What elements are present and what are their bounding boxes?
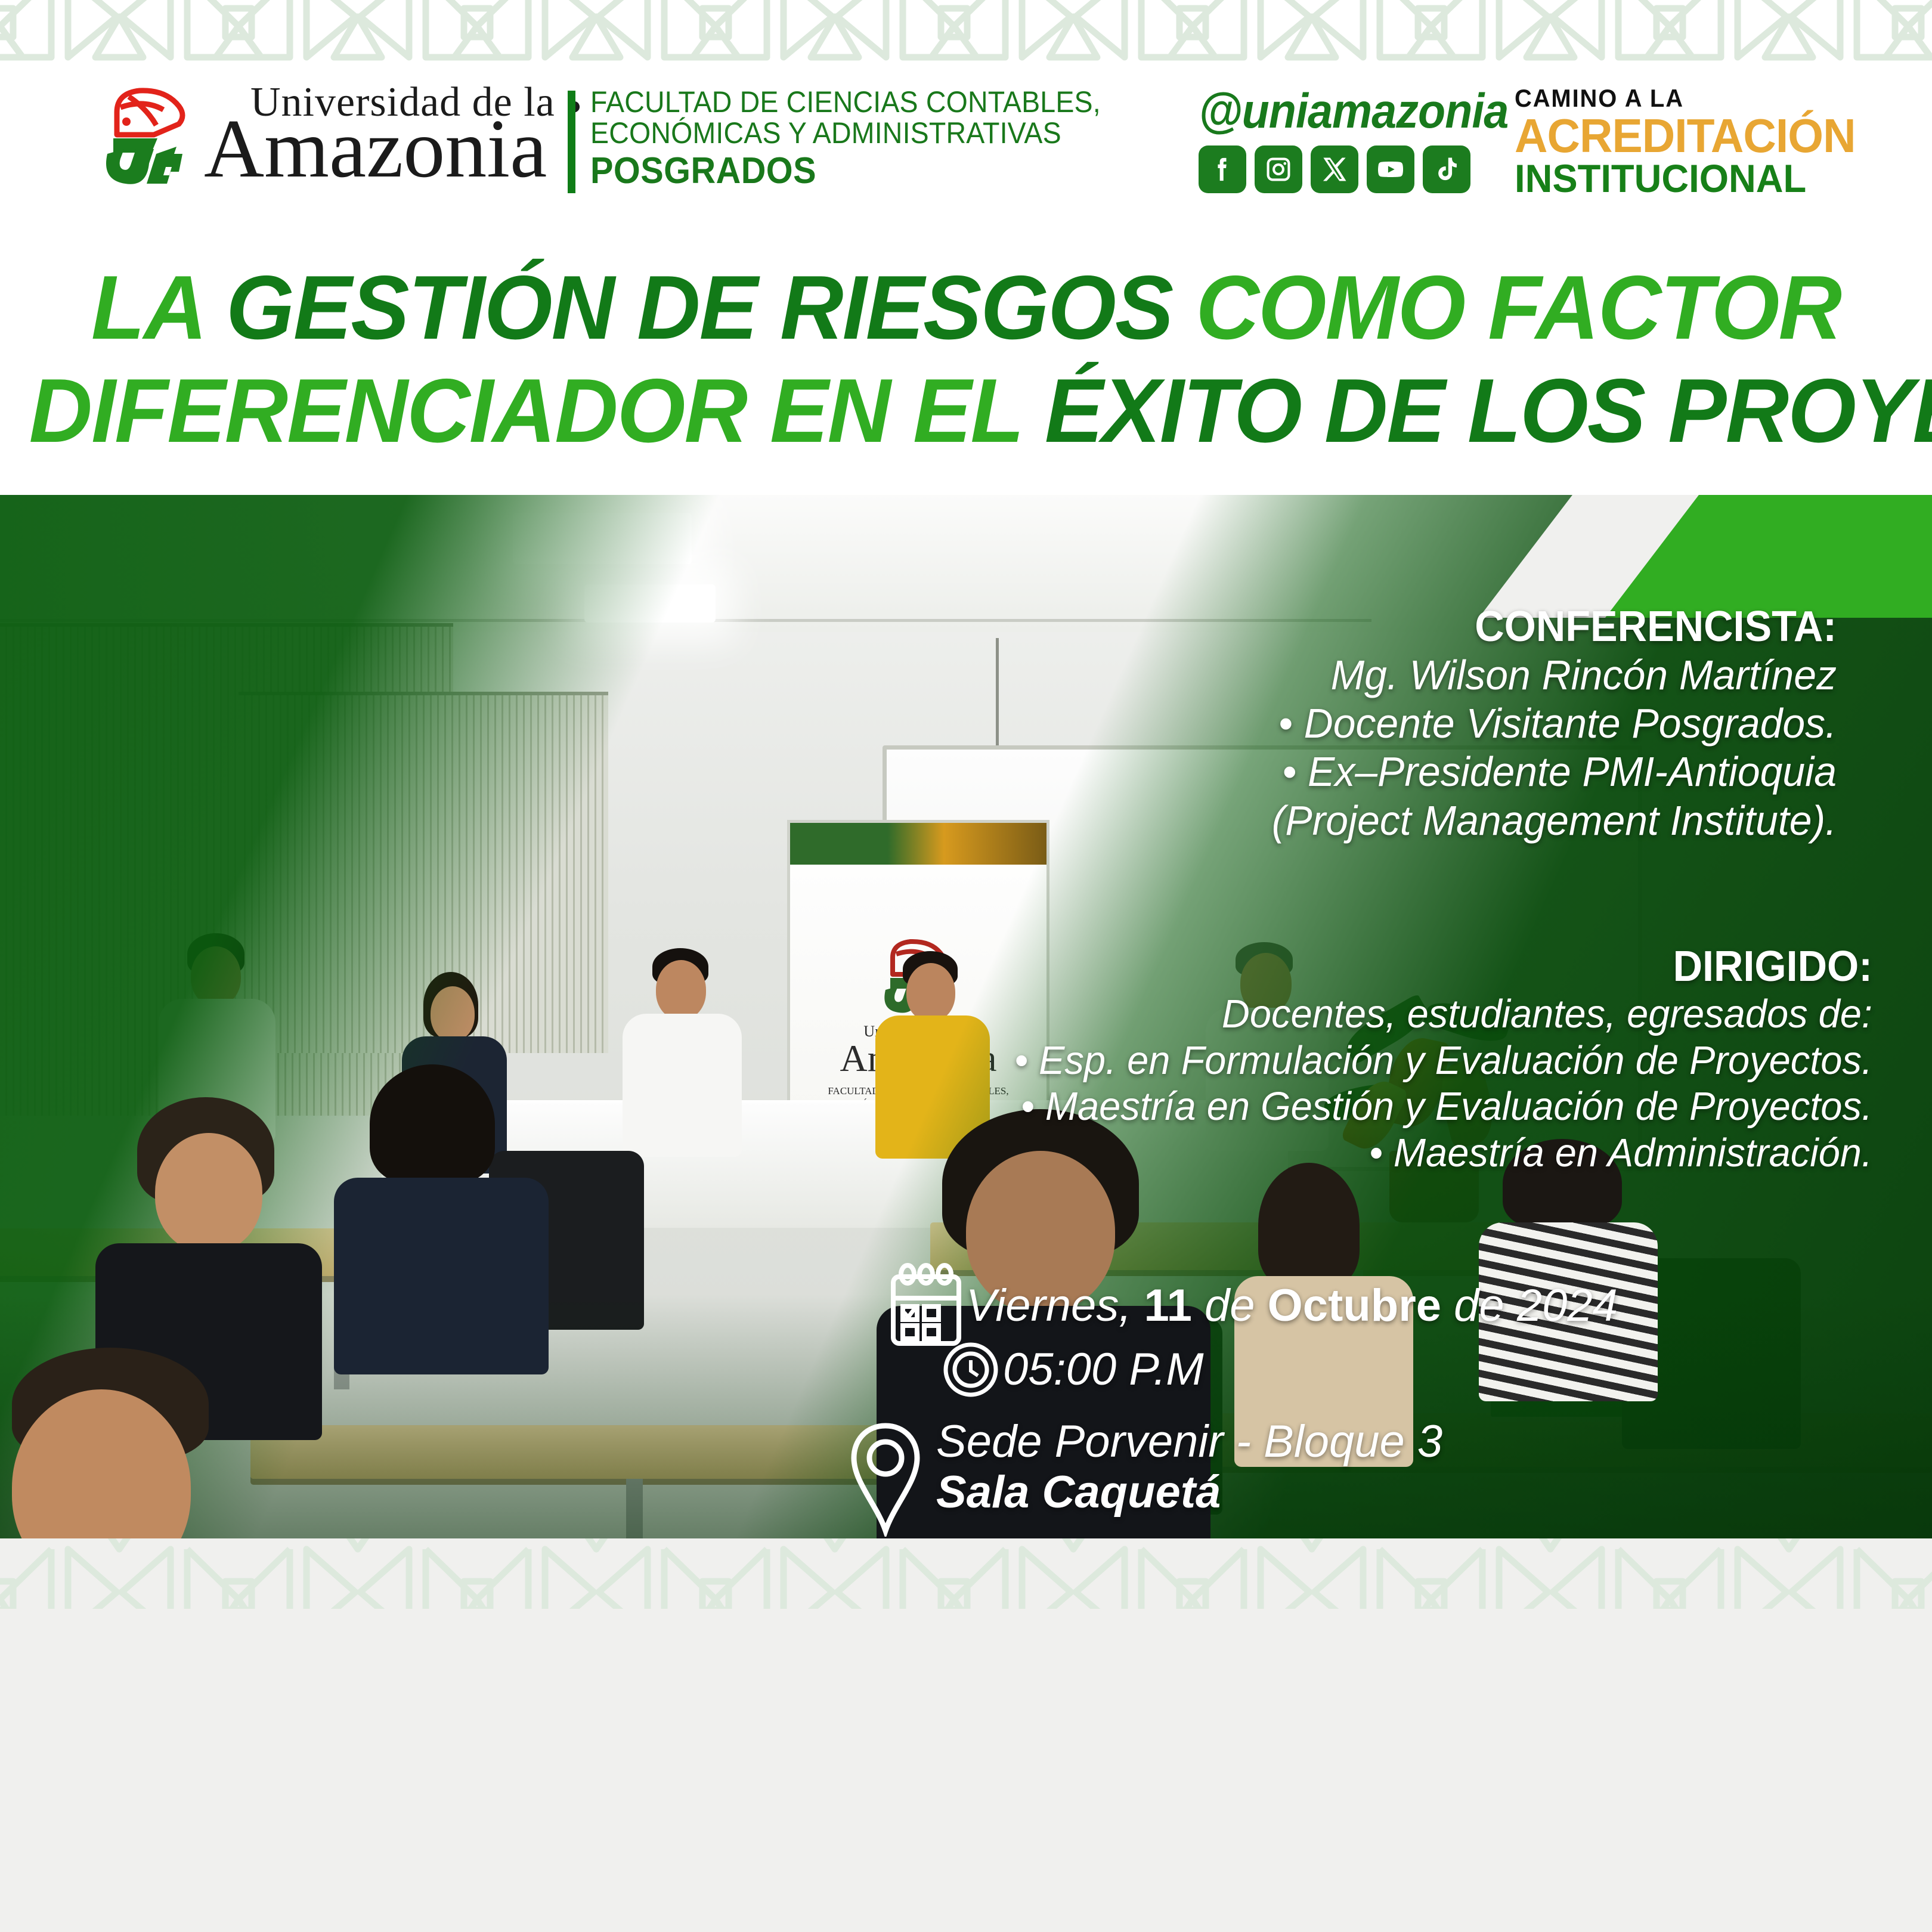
title-line-1: LA GESTIÓN DE RIESGOS COMO FACTOR xyxy=(29,256,1903,360)
speaker-block: CONFERENCISTA: Mg. Wilson Rincón Martíne… xyxy=(972,602,1837,845)
clock-icon xyxy=(941,1340,1003,1400)
top-ornament-border xyxy=(0,0,1932,70)
header-divider xyxy=(568,91,575,193)
program-level-label: POSGRADOS xyxy=(590,152,1101,190)
university-name-line2: Amazonia xyxy=(204,111,583,188)
time-row: 05:00 P.M xyxy=(941,1340,1618,1400)
speaker-bullet-1: • Docente Visitante Posgrados. xyxy=(998,699,1837,748)
audience-intro: Docentes, estudiantes, egresados de: xyxy=(889,991,1872,1038)
bottom-ornament-border xyxy=(0,1538,1932,1932)
calendar-icon xyxy=(888,1261,966,1351)
speaker-bullet-2: • Ex–Presidente PMI-Antioquia xyxy=(998,748,1837,796)
poster-header: Universidad de la ● Amazonia FACULTAD DE… xyxy=(0,78,1932,227)
faculty-line-2: ECONÓMICAS Y ADMINISTRATIVAS xyxy=(590,118,1101,149)
audience-label: DIRIGIDO: xyxy=(909,942,1872,991)
speaker-name: Mg. Wilson Rincón Martínez xyxy=(998,651,1837,699)
event-details-block: Viernes, 11 de Octubre de 2024 05:00 P.M xyxy=(888,1261,1618,1537)
event-date: Viernes, 11 de Octubre de 2024 xyxy=(966,1280,1618,1331)
title-seg-1: LA xyxy=(91,257,226,358)
audience-block: DIRIGIDO: Docentes, estudiantes, egresad… xyxy=(859,942,1872,1176)
venue-row: Sede Porvenir - Bloque 3 Sala Caquetá xyxy=(847,1416,1618,1537)
social-block: @uniamazonia xyxy=(1199,83,1535,193)
accreditation-line-2: ACREDITACIÓN xyxy=(1515,112,1856,160)
accreditation-line-1: CAMINO A LA xyxy=(1515,86,1852,111)
faculty-block: FACULTAD DE CIENCIAS CONTABLES, ECONÓMIC… xyxy=(590,87,1139,190)
event-time: 05:00 P.M xyxy=(1003,1344,1204,1395)
youtube-icon[interactable] xyxy=(1367,145,1414,193)
date-row: Viernes, 11 de Octubre de 2024 xyxy=(888,1261,1618,1351)
title-seg-5: ÉXITO DE LOS PROYECTOS xyxy=(1045,360,1932,462)
audience-bullet-3: • Maestría en Administración. xyxy=(889,1130,1872,1176)
location-pin-icon xyxy=(847,1416,936,1537)
social-handle: @uniamazonia xyxy=(1199,83,1508,140)
title-line-2: DIFERENCIADOR EN EL ÉXITO DE LOS PROYECT… xyxy=(29,360,1903,463)
accent-wedge-top-right xyxy=(1479,495,1932,618)
title-seg-2: GESTIÓN DE RIESGOS xyxy=(226,257,1196,358)
audience-bullet-2: • Maestría en Gestión y Evaluación de Pr… xyxy=(889,1083,1872,1130)
social-icon-row xyxy=(1199,145,1535,193)
facebook-icon[interactable] xyxy=(1199,145,1246,193)
university-logo: Universidad de la ● Amazonia xyxy=(89,83,583,188)
x-twitter-icon[interactable] xyxy=(1311,145,1358,193)
venue-text: Sede Porvenir - Bloque 3 Sala Caquetá xyxy=(936,1416,1442,1518)
title-seg-4: DIFERENCIADOR EN EL xyxy=(29,360,1045,462)
accreditation-badge: CAMINO A LA ACREDITACIÓN INSTITUCIONAL xyxy=(1515,86,1869,198)
title-seg-3: COMO FACTOR xyxy=(1196,257,1841,358)
toucan-icon xyxy=(89,83,209,188)
poster-canvas: Universidad de la ● Amazonia FACULTAD DE… xyxy=(0,0,1932,1932)
speaker-label: CONFERENCISTA: xyxy=(1015,602,1837,651)
venue-line-2: Sala Caquetá xyxy=(936,1467,1442,1518)
audience-bullet-1: • Esp. en Formulación y Evaluación de Pr… xyxy=(889,1038,1872,1084)
faculty-line-1: FACULTAD DE CIENCIAS CONTABLES, xyxy=(590,87,1101,118)
accreditation-line-3: INSTITUCIONAL xyxy=(1515,159,1856,198)
venue-line-1: Sede Porvenir - Bloque 3 xyxy=(936,1416,1442,1467)
event-title: LA GESTIÓN DE RIESGOS COMO FACTOR DIFERE… xyxy=(0,256,1932,463)
tiktok-icon[interactable] xyxy=(1423,145,1470,193)
speaker-bullet-3: (Project Management Institute). xyxy=(998,797,1837,845)
instagram-icon[interactable] xyxy=(1255,145,1302,193)
